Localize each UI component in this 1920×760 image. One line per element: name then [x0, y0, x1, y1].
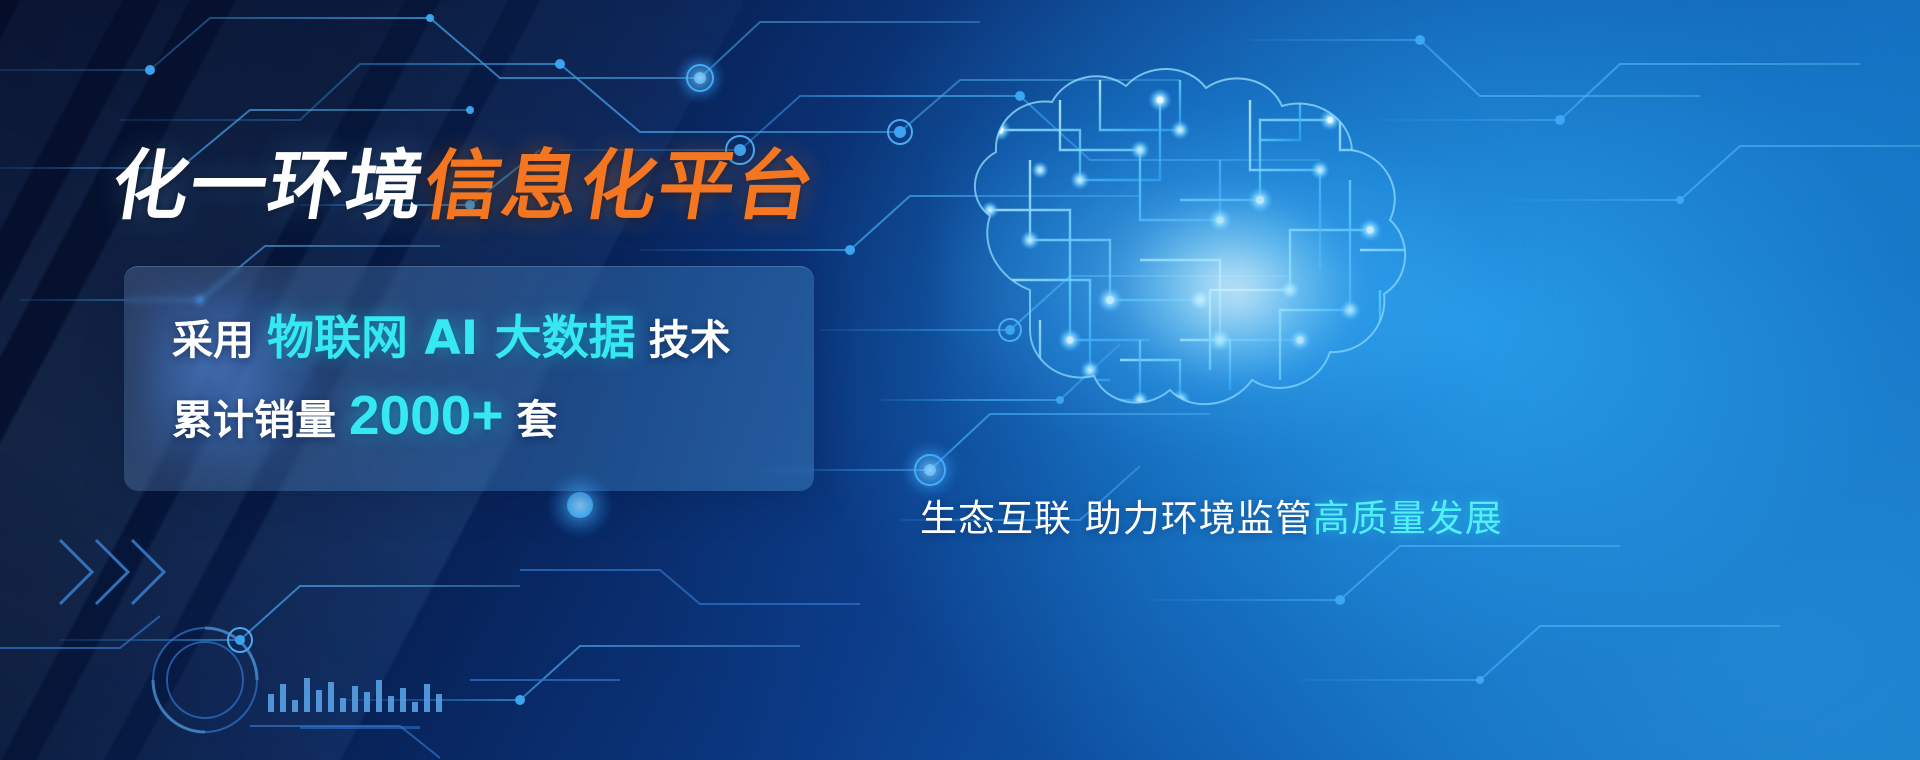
highlight-line-sales: 累计销量2000+套: [172, 388, 772, 443]
equalizer-bars: [0, 530, 860, 760]
sales-unit-label: 套: [516, 396, 557, 444]
tech-highlight-label: 物联网 AI 大数据: [267, 311, 636, 366]
highlights-card-lines: 采用物联网 AI 大数据技术 累计销量2000+套: [172, 266, 772, 491]
brain-core-glow: [1110, 190, 1360, 390]
page-title: 化一环境信息化平台: [107, 148, 821, 224]
ai-brain-graphic: [880, 40, 1600, 510]
bar-group: [268, 678, 442, 712]
brain-circuit-svg: [880, 40, 1600, 510]
tech-prefix-label: 采用: [172, 316, 254, 364]
title-white-segment: 化一环境: [106, 141, 432, 230]
highlights-card: 采用物联网 AI 大数据技术 累计销量2000+套: [124, 266, 814, 491]
banner-tagline: 生态互联 助力环境监管高质量发展: [920, 488, 1503, 542]
brain-glow: [940, 80, 1540, 480]
hero-banner: 化一环境信息化平台 采用物联网 AI 大数据技术 累计销量2000+套 生态互联…: [0, 0, 1920, 760]
hud-decoration: [0, 530, 860, 760]
sales-count-value: 2000+: [349, 384, 503, 446]
tech-suffix-label: 技术: [649, 316, 731, 364]
tagline-white-segment: 生态互联 助力环境监管: [920, 497, 1313, 540]
highlight-line-technology: 采用物联网 AI 大数据技术: [172, 315, 772, 362]
title-orange-segment: 信息化平台: [418, 141, 822, 230]
tagline-cyan-segment: 高质量发展: [1313, 497, 1503, 540]
sales-prefix-label: 累计销量: [172, 396, 336, 444]
